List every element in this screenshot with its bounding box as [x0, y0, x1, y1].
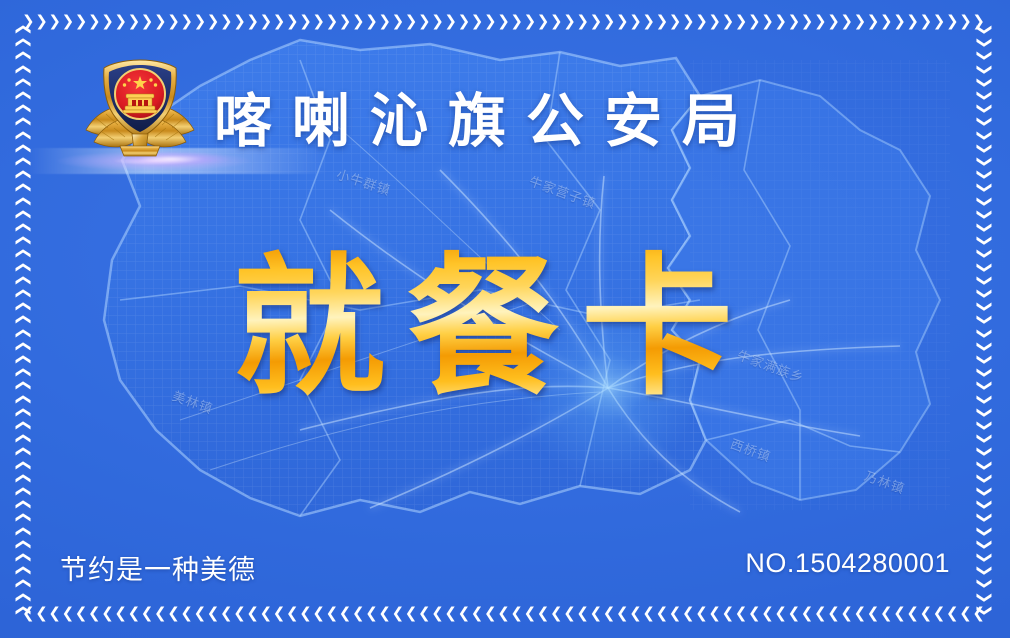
border-chevron: ❮	[167, 606, 180, 621]
border-chevron: ❮	[576, 606, 589, 621]
border-chevron: ❯	[977, 551, 992, 564]
border-chevron: ❯	[339, 14, 352, 29]
border-chevron: ❯	[48, 14, 61, 29]
border-chevron: ❯	[352, 14, 365, 29]
border-chevron: ❯	[977, 142, 992, 155]
border-chevron: ❯	[977, 485, 992, 498]
border-chevron: ❮	[392, 606, 405, 621]
border-chevron: ❯	[814, 14, 827, 29]
border-chevron: ❯	[15, 353, 30, 366]
border-chevron: ❯	[15, 248, 30, 261]
border-chevron: ❯	[977, 406, 992, 419]
border-chevron: ❯	[286, 14, 299, 29]
border-chevron: ❯	[15, 551, 30, 564]
border-chevron: ❯	[977, 472, 992, 485]
border-chevron: ❯	[15, 287, 30, 300]
border-chevron: ❯	[15, 208, 30, 221]
border-chevron: ❮	[801, 606, 814, 621]
border-chevrons-left: ❯❯❯❯❯❯❯❯❯❯❯❯❯❯❯❯❯❯❯❯❯❯❯❯❯❯❯❯❯❯❯❯❯❯❯❯❯❯❯❯…	[14, 22, 36, 616]
border-chevron: ❮	[933, 606, 946, 621]
border-chevron: ❮	[722, 606, 735, 621]
border-chevron: ❮	[682, 606, 695, 621]
border-chevron: ❮	[220, 606, 233, 621]
border-chevron: ❯	[977, 208, 992, 221]
border-chevron: ❯	[827, 14, 840, 29]
border-chevron: ❯	[537, 14, 550, 29]
border-chevron: ❮	[444, 606, 457, 621]
border-chevron: ❮	[75, 606, 88, 621]
border-chevron: ❯	[75, 14, 88, 29]
card-motto: 节约是一种美德	[60, 548, 256, 587]
border-chevron: ❯	[15, 591, 30, 604]
map-place-label: 小牛群镇	[334, 164, 393, 199]
border-chevrons-bottom: ❮❮❮❮❮❮❮❮❮❮❮❮❮❮❮❮❮❮❮❮❮❮❮❮❮❮❮❮❮❮❮❮❮❮❮❮❮❮❮❮…	[22, 604, 988, 626]
map-place-label: 牛家营子镇	[527, 171, 599, 213]
border-chevron: ❮	[48, 606, 61, 621]
border-chevron: ❮	[867, 606, 880, 621]
border-chevron: ❯	[444, 14, 457, 29]
border-chevron: ❯	[15, 459, 30, 472]
border-chevron: ❯	[35, 14, 48, 29]
border-chevron: ❯	[977, 76, 992, 89]
border-chevron: ❮	[365, 606, 378, 621]
border-chevron: ❯	[576, 14, 589, 29]
border-chevron: ❮	[788, 606, 801, 621]
border-chevron: ❯	[15, 604, 30, 616]
border-chevrons-top: ❯❯❯❯❯❯❯❯❯❯❯❯❯❯❯❯❯❯❯❯❯❯❯❯❯❯❯❯❯❯❯❯❯❯❯❯❯❯❯❯…	[22, 12, 988, 34]
card-serial-number: NO.1504280001	[745, 548, 950, 579]
border-chevron: ❯	[977, 23, 992, 36]
border-chevron: ❮	[207, 606, 220, 621]
border-chevron: ❮	[946, 606, 959, 621]
map-place-label: 西桥镇	[728, 433, 774, 465]
border-chevron: ❯	[977, 366, 992, 379]
border-chevron: ❯	[15, 182, 30, 195]
border-chevron: ❯	[114, 14, 127, 29]
border-chevron: ❯	[977, 129, 992, 142]
border-chevron: ❯	[15, 261, 30, 274]
border-chevron: ❯	[669, 14, 682, 29]
border-chevron: ❯	[15, 63, 30, 76]
border-chevron: ❯	[15, 314, 30, 327]
border-chevron: ❯	[977, 102, 992, 115]
border-chevron: ❯	[15, 116, 30, 129]
border-chevron: ❯	[977, 89, 992, 102]
border-chevron: ❯	[774, 14, 787, 29]
border-chevron: ❯	[977, 564, 992, 577]
border-chevron: ❮	[286, 606, 299, 621]
border-chevron: ❯	[854, 14, 867, 29]
border-chevron: ❯	[977, 274, 992, 287]
border-chevron: ❮	[484, 606, 497, 621]
dining-card: 小牛群镇牛家营子镇牛家满族乡美林镇西桥镇乃林镇 ❯❯❯❯❯❯❯❯❯❯❯❯❯❯❯❯…	[0, 0, 1010, 638]
border-chevron: ❯	[431, 14, 444, 29]
border-chevron: ❯	[590, 14, 603, 29]
border-chevron: ❯	[977, 538, 992, 551]
border-chevron: ❯	[920, 14, 933, 29]
border-chevron: ❮	[35, 606, 48, 621]
border-chevron: ❮	[603, 606, 616, 621]
border-chevron: ❯	[946, 14, 959, 29]
border-chevron: ❯	[15, 300, 30, 313]
card-type-title: 就餐卡	[233, 246, 777, 410]
border-chevron: ❯	[977, 432, 992, 445]
border-chevron: ❯	[15, 76, 30, 89]
border-chevron: ❮	[154, 606, 167, 621]
border-chevron: ❮	[708, 606, 721, 621]
border-chevron: ❯	[977, 525, 992, 538]
border-chevron: ❯	[15, 23, 30, 36]
map-place-label: 乃林镇	[862, 465, 908, 497]
border-chevron: ❯	[326, 14, 339, 29]
border-chevron: ❯	[273, 14, 286, 29]
border-chevron: ❮	[656, 606, 669, 621]
border-chevron: ❯	[15, 393, 30, 406]
border-chevron: ❯	[15, 419, 30, 432]
border-chevron: ❮	[260, 606, 273, 621]
border-chevron: ❯	[392, 14, 405, 29]
border-chevron: ❯	[977, 512, 992, 525]
border-chevron: ❯	[977, 591, 992, 604]
border-chevron: ❮	[326, 606, 339, 621]
border-chevron: ❯	[180, 14, 193, 29]
border-chevron: ❮	[246, 606, 259, 621]
border-chevron: ❯	[101, 14, 114, 29]
border-chevron: ❮	[814, 606, 827, 621]
border-chevron: ❯	[246, 14, 259, 29]
map-place-label: 美林镇	[170, 385, 216, 417]
border-chevron: ❯	[15, 50, 30, 63]
border-chevron: ❯	[977, 155, 992, 168]
border-chevron: ❯	[977, 261, 992, 274]
border-chevron: ❯	[977, 314, 992, 327]
border-chevron: ❯	[365, 14, 378, 29]
border-chevron: ❯	[484, 14, 497, 29]
border-chevron: ❮	[748, 606, 761, 621]
border-chevron: ❯	[15, 525, 30, 538]
border-chevron: ❯	[977, 604, 992, 616]
border-chevron: ❯	[977, 116, 992, 129]
border-chevron: ❯	[840, 14, 853, 29]
border-chevron: ❮	[101, 606, 114, 621]
border-chevron: ❯	[15, 168, 30, 181]
border-chevron: ❯	[977, 63, 992, 76]
border-chevron: ❯	[977, 353, 992, 366]
border-chevron: ❯	[15, 485, 30, 498]
border-chevron: ❮	[550, 606, 563, 621]
border-chevron: ❮	[141, 606, 154, 621]
border-chevron: ❯	[378, 14, 391, 29]
border-chevron: ❯	[418, 14, 431, 29]
border-chevron: ❯	[15, 195, 30, 208]
border-chevron: ❯	[15, 142, 30, 155]
border-chevron: ❯	[62, 14, 75, 29]
border-chevron: ❮	[378, 606, 391, 621]
border-chevron: ❯	[977, 234, 992, 247]
border-chevron: ❯	[977, 287, 992, 300]
border-chevron: ❮	[128, 606, 141, 621]
border-chevron: ❯	[312, 14, 325, 29]
border-chevron: ❯	[15, 234, 30, 247]
border-chevron: ❮	[827, 606, 840, 621]
border-chevron: ❯	[15, 512, 30, 525]
border-chevron: ❮	[629, 606, 642, 621]
border-chevron: ❯	[15, 538, 30, 551]
border-chevron: ❯	[207, 14, 220, 29]
border-chevron: ❯	[977, 498, 992, 511]
border-chevron: ❯	[867, 14, 880, 29]
border-chevron: ❯	[563, 14, 576, 29]
border-chevron: ❯	[642, 14, 655, 29]
border-chevron: ❯	[977, 36, 992, 49]
border-chevron: ❯	[15, 89, 30, 102]
border-chevron: ❯	[977, 419, 992, 432]
border-chevron: ❯	[977, 459, 992, 472]
border-chevron: ❯	[977, 182, 992, 195]
border-chevron: ❮	[114, 606, 127, 621]
border-chevron: ❮	[471, 606, 484, 621]
border-chevron: ❯	[15, 129, 30, 142]
border-chevron: ❮	[352, 606, 365, 621]
border-chevron: ❯	[15, 498, 30, 511]
border-chevron: ❯	[977, 393, 992, 406]
border-chevron: ❯	[524, 14, 537, 29]
border-chevron: ❯	[550, 14, 563, 29]
border-chevron: ❮	[880, 606, 893, 621]
border-chevron: ❯	[15, 380, 30, 393]
border-chevron: ❯	[977, 50, 992, 63]
border-chevron: ❮	[774, 606, 787, 621]
border-chevron: ❮	[761, 606, 774, 621]
border-chevron: ❯	[458, 14, 471, 29]
border-chevron: ❯	[656, 14, 669, 29]
border-chevron: ❮	[669, 606, 682, 621]
border-chevron: ❯	[977, 327, 992, 340]
border-chevron: ❯	[220, 14, 233, 29]
border-chevron: ❯	[154, 14, 167, 29]
border-chevron: ❯	[141, 14, 154, 29]
border-chevron: ❮	[180, 606, 193, 621]
border-chevron: ❯	[959, 14, 972, 29]
border-chevron: ❮	[893, 606, 906, 621]
border-chevron: ❮	[510, 606, 523, 621]
border-chevron: ❮	[616, 606, 629, 621]
border-chevron: ❮	[458, 606, 471, 621]
border-chevron: ❯	[15, 274, 30, 287]
border-chevron: ❮	[642, 606, 655, 621]
border-chevron: ❮	[959, 606, 972, 621]
border-chevron: ❯	[497, 14, 510, 29]
border-chevron: ❯	[15, 327, 30, 340]
border-chevron: ❯	[708, 14, 721, 29]
border-chevron: ❯	[682, 14, 695, 29]
border-chevron: ❯	[510, 14, 523, 29]
border-chevron: ❯	[761, 14, 774, 29]
border-chevron: ❮	[405, 606, 418, 621]
border-chevron: ❯	[167, 14, 180, 29]
border-chevron: ❯	[977, 195, 992, 208]
border-chevron: ❮	[273, 606, 286, 621]
border-chevron: ❮	[312, 606, 325, 621]
border-chevron: ❮	[524, 606, 537, 621]
border-chevron: ❮	[62, 606, 75, 621]
border-chevron: ❯	[405, 14, 418, 29]
border-chevron: ❯	[15, 366, 30, 379]
organization-title: 喀喇沁旗公安局	[214, 74, 760, 158]
border-chevron: ❯	[471, 14, 484, 29]
border-chevron: ❯	[15, 155, 30, 168]
border-chevron: ❯	[15, 340, 30, 353]
border-chevron: ❯	[722, 14, 735, 29]
border-chevron: ❯	[15, 446, 30, 459]
border-chevron: ❮	[695, 606, 708, 621]
border-chevron: ❯	[15, 36, 30, 49]
border-chevron: ❯	[735, 14, 748, 29]
border-chevron: ❯	[977, 446, 992, 459]
border-chevron: ❯	[977, 221, 992, 234]
border-chevron: ❯	[748, 14, 761, 29]
border-chevron: ❯	[260, 14, 273, 29]
border-chevron: ❯	[977, 168, 992, 181]
border-chevron: ❯	[933, 14, 946, 29]
border-chevron: ❯	[15, 406, 30, 419]
border-chevron: ❮	[563, 606, 576, 621]
border-chevron: ❯	[88, 14, 101, 29]
border-chevron: ❯	[233, 14, 246, 29]
border-chevron: ❯	[616, 14, 629, 29]
border-chevron: ❯	[977, 248, 992, 261]
border-chevron: ❮	[88, 606, 101, 621]
border-chevron: ❯	[977, 380, 992, 393]
border-chevron: ❯	[977, 340, 992, 353]
border-chevron: ❯	[788, 14, 801, 29]
border-chevron: ❯	[15, 472, 30, 485]
border-chevron: ❮	[497, 606, 510, 621]
border-chevron: ❯	[893, 14, 906, 29]
border-chevron: ❮	[194, 606, 207, 621]
border-chevron: ❮	[840, 606, 853, 621]
border-chevron: ❮	[906, 606, 919, 621]
border-chevron: ❯	[977, 300, 992, 313]
china-police-badge-icon	[82, 54, 198, 162]
border-chevron: ❮	[590, 606, 603, 621]
border-chevron: ❯	[695, 14, 708, 29]
border-chevron: ❯	[906, 14, 919, 29]
border-chevron: ❯	[128, 14, 141, 29]
border-chevron: ❮	[418, 606, 431, 621]
border-chevron: ❮	[735, 606, 748, 621]
border-chevron: ❯	[15, 221, 30, 234]
border-chevron: ❮	[339, 606, 352, 621]
border-chevron: ❯	[194, 14, 207, 29]
border-chevron: ❮	[854, 606, 867, 621]
border-chevron: ❯	[801, 14, 814, 29]
border-chevron: ❯	[15, 102, 30, 115]
border-chevron: ❯	[15, 432, 30, 445]
border-chevron: ❮	[920, 606, 933, 621]
border-chevron: ❯	[629, 14, 642, 29]
border-chevron: ❯	[299, 14, 312, 29]
border-chevron: ❯	[880, 14, 893, 29]
border-chevron: ❯	[15, 564, 30, 577]
border-chevron: ❮	[537, 606, 550, 621]
border-chevron: ❮	[431, 606, 444, 621]
border-chevron: ❯	[15, 578, 30, 591]
border-chevron: ❮	[299, 606, 312, 621]
border-chevron: ❯	[977, 578, 992, 591]
border-chevron: ❯	[603, 14, 616, 29]
border-chevrons-right: ❯❯❯❯❯❯❯❯❯❯❯❯❯❯❯❯❯❯❯❯❯❯❯❯❯❯❯❯❯❯❯❯❯❯❯❯❯❯❯❯…	[976, 22, 998, 616]
border-chevron: ❮	[233, 606, 246, 621]
